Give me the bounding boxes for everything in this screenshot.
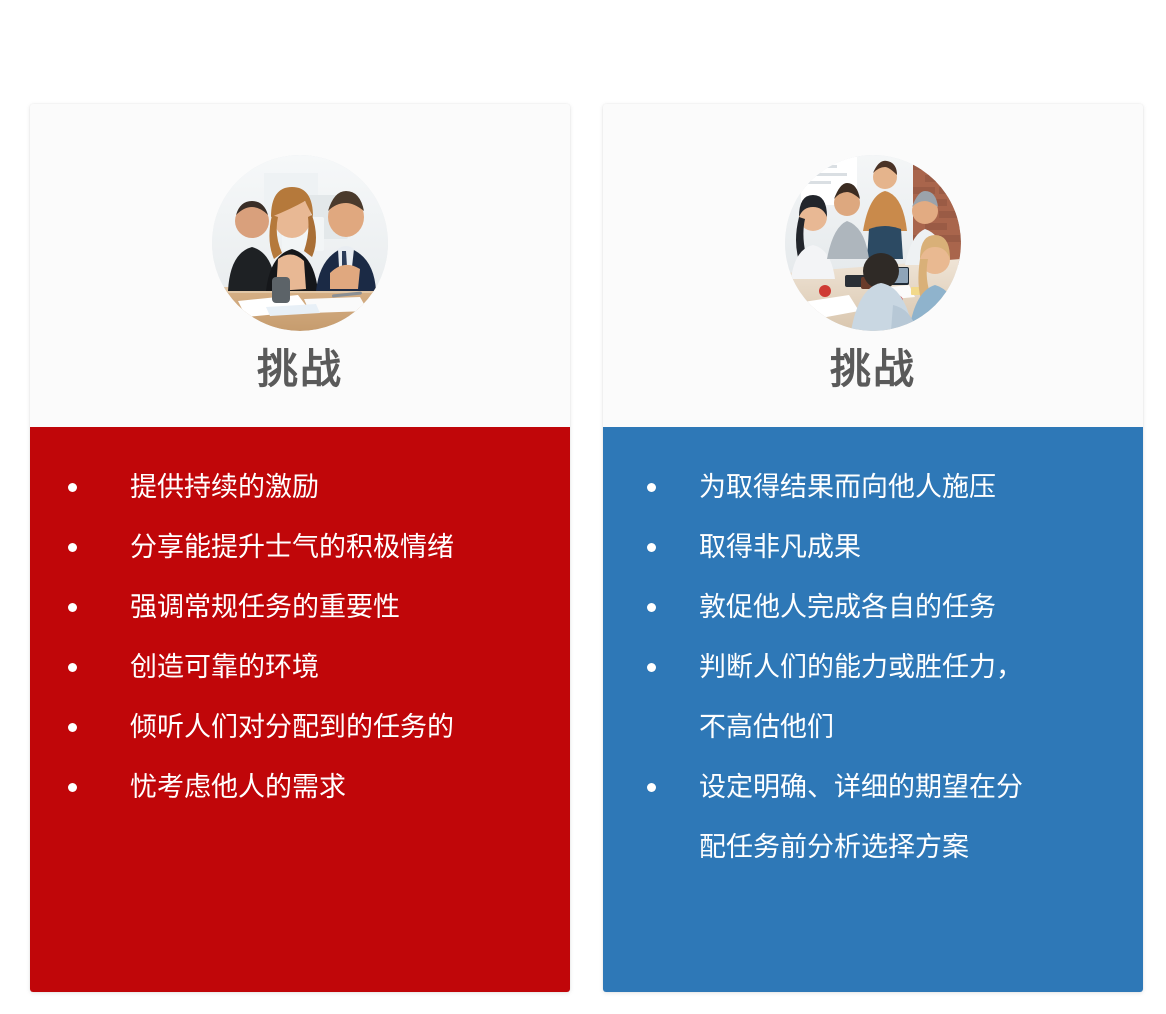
list-item: 敦促他人完成各自的任务: [629, 577, 1117, 637]
list-item: 倾听人们对分配到的任务的: [56, 697, 544, 757]
list-item: 判断人们的能力或胜任力， 不高估他们: [629, 637, 1117, 757]
list-item: 取得非凡成果: [629, 517, 1117, 577]
list-item: 提供持续的激励: [56, 457, 544, 517]
list-item: 强调常规任务的重要性: [56, 577, 544, 637]
list-item: 忧考虑他人的需求: [56, 757, 544, 817]
list-item: 创造可靠的环境: [56, 637, 544, 697]
challenge-card-blue[interactable]: 挑战 为取得结果而向他人施压 取得非凡成果 敦促他人完成各自的任务 判断人们的能…: [603, 104, 1143, 992]
list-item: 分享能提升士气的积极情绪: [56, 517, 544, 577]
avatar-photo-blue: [785, 155, 961, 331]
list-item: 设定明确、详细的期望在分 配任务前分析选择方案: [629, 757, 1117, 877]
challenge-card-red[interactable]: 挑战 提供持续的激励 分享能提升士气的积极情绪 强调常规任务的重要性 创造可靠的…: [30, 104, 570, 992]
card-header-blue: 挑战: [603, 104, 1143, 427]
bullet-panel-blue: 为取得结果而向他人施压 取得非凡成果 敦促他人完成各自的任务 判断人们的能力或胜…: [603, 427, 1143, 992]
card-header-red: 挑战: [30, 104, 570, 427]
meeting-photo-left-icon: [212, 155, 388, 331]
avatar-photo-red: [212, 155, 388, 331]
bullet-list-red: 提供持续的激励 分享能提升士气的积极情绪 强调常规任务的重要性 创造可靠的环境 …: [56, 457, 544, 817]
slide-canvas: 挑战 提供持续的激励 分享能提升士气的积极情绪 强调常规任务的重要性 创造可靠的…: [0, 0, 1166, 1014]
team-meeting-photo-icon: [785, 155, 961, 331]
bullet-list-blue: 为取得结果而向他人施压 取得非凡成果 敦促他人完成各自的任务 判断人们的能力或胜…: [629, 457, 1117, 877]
bullet-panel-red: 提供持续的激励 分享能提升士气的积极情绪 强调常规任务的重要性 创造可靠的环境 …: [30, 427, 570, 992]
card-title-red: 挑战: [30, 347, 570, 392]
list-item: 为取得结果而向他人施压: [629, 457, 1117, 517]
card-title-blue: 挑战: [603, 347, 1143, 392]
